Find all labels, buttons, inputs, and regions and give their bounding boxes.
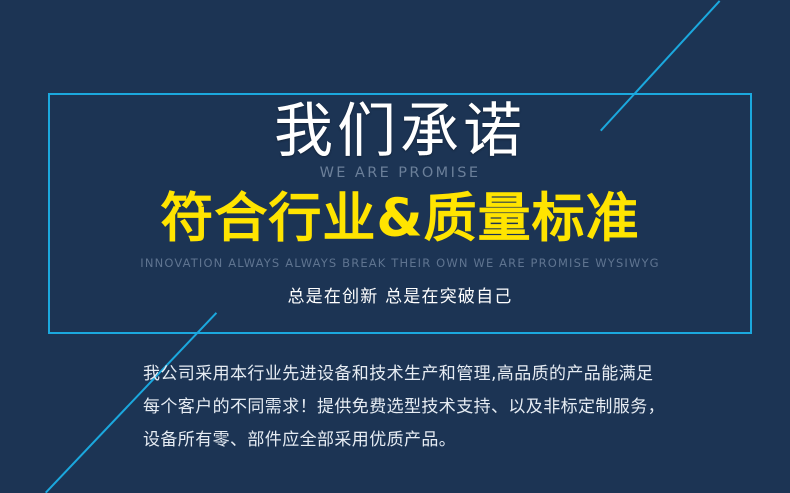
slogan-highlight: 符合行业&质量标准	[160, 191, 639, 247]
body-line-3: 设备所有零、部件应全部采用优质产品。	[143, 424, 683, 457]
body-line-1: 我公司采用本行业先进设备和技术生产和管理,高品质的产品能满足	[143, 358, 683, 391]
headline-block: 我们承诺 WE ARE PROMISE 符合行业&质量标准 INNOVATION…	[48, 93, 752, 334]
promise-banner: 我们承诺 WE ARE PROMISE 符合行业&质量标准 INNOVATION…	[0, 0, 790, 493]
slogan-subtitle-en: INNOVATION ALWAYS ALWAYS BREAK THEIR OWN…	[140, 256, 659, 270]
page-title-en: WE ARE PROMISE	[320, 165, 481, 181]
page-title-cn: 我们承诺	[274, 101, 526, 161]
slogan-subtitle-cn: 总是在创新 总是在突破自己	[287, 282, 512, 307]
body-paragraph: 我公司采用本行业先进设备和技术生产和管理,高品质的产品能满足 每个客户的不同需求…	[143, 358, 683, 457]
body-line-2: 每个客户的不同需求！提供免费选型技术支持、以及非标定制服务，	[143, 391, 683, 424]
